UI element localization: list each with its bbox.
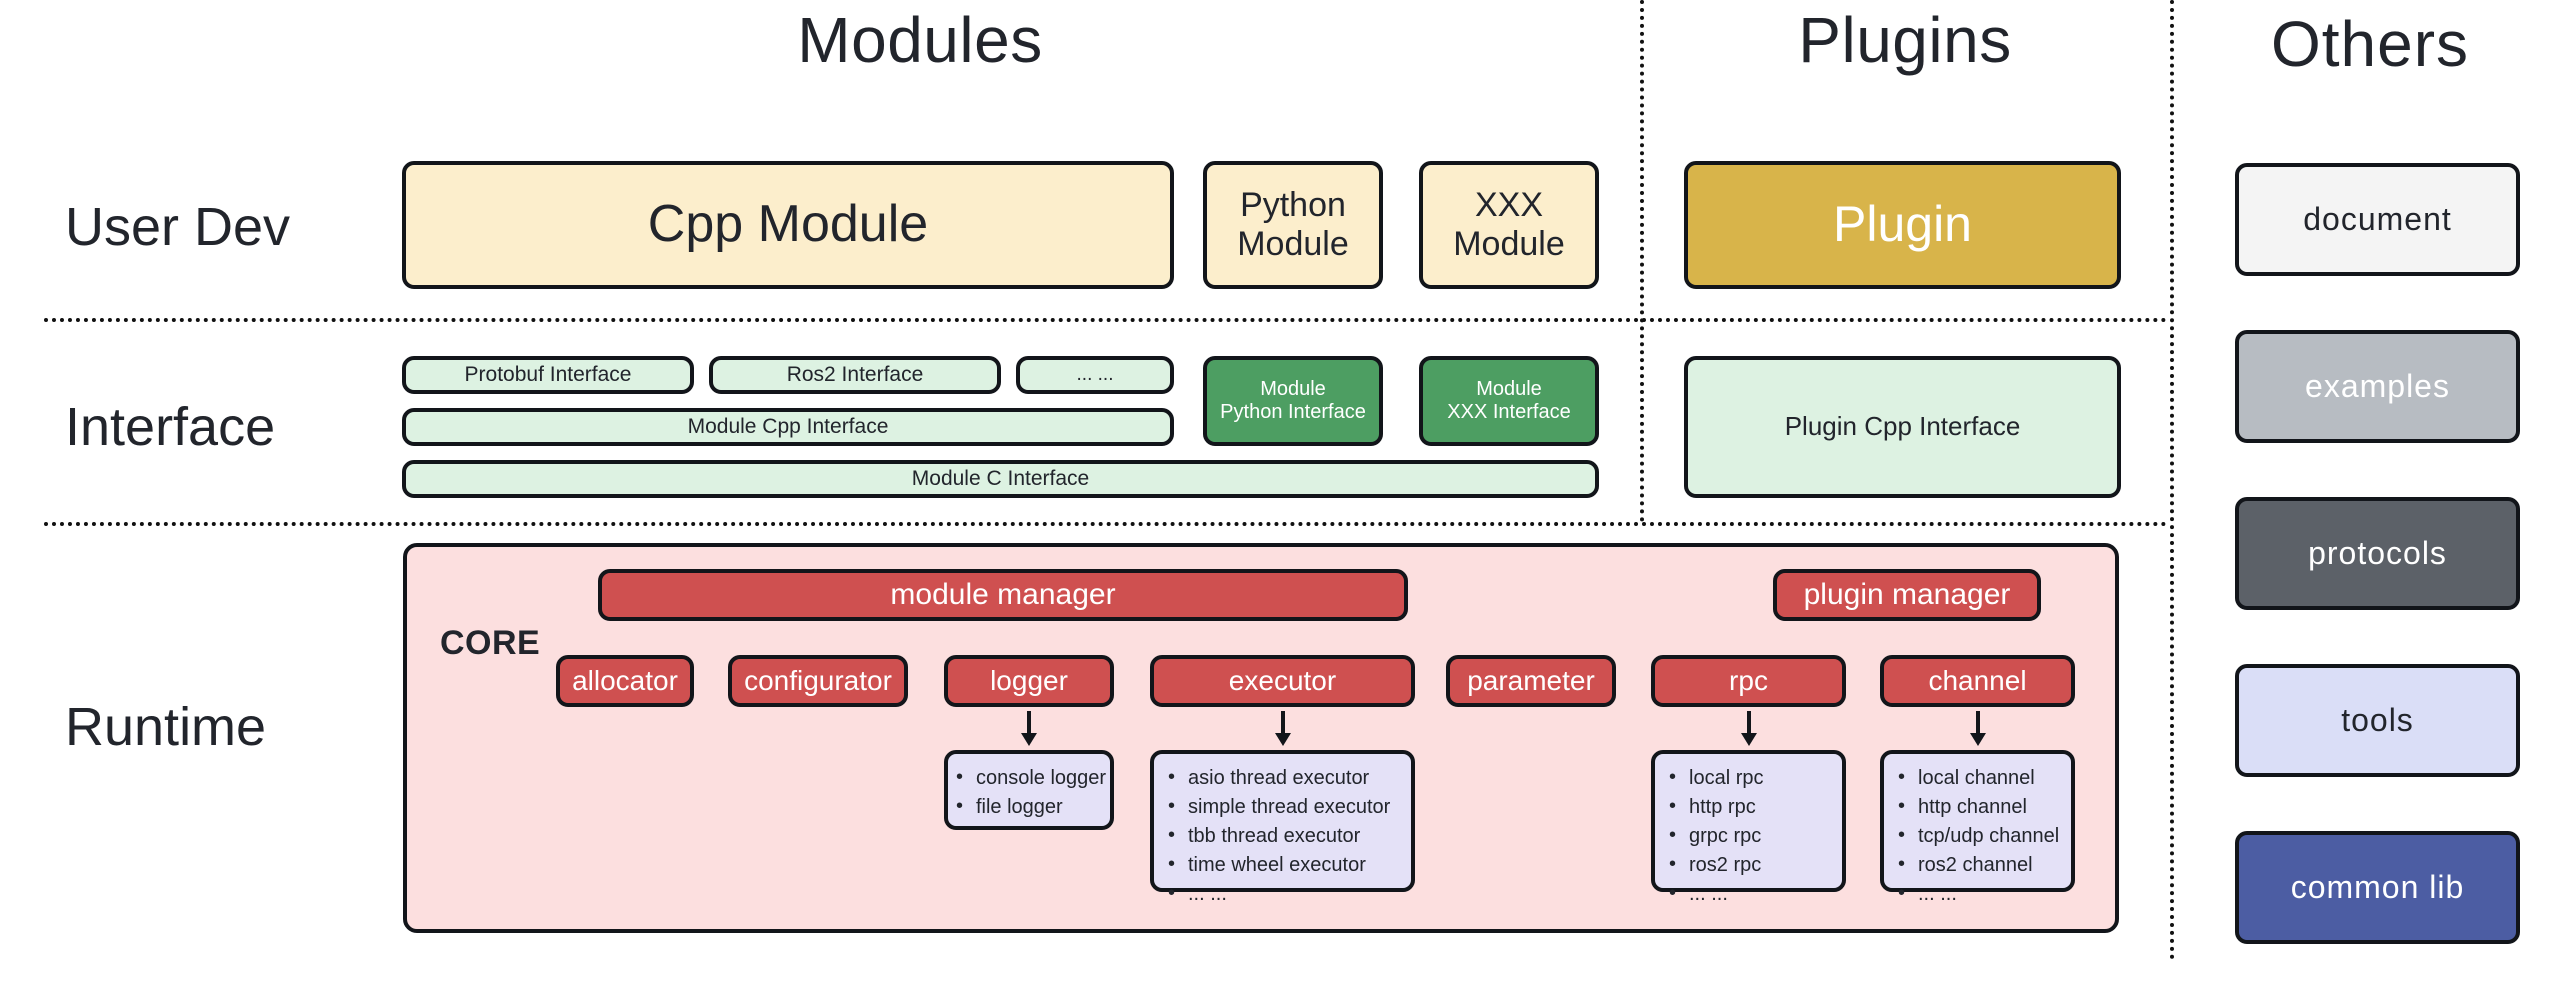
module-xxx-interface-label-line1: Module [1476, 378, 1542, 401]
list-item: ... ... [1914, 880, 2061, 909]
column-header-others: Others [2200, 12, 2540, 76]
module-cpp-interface-label: Module Cpp Interface [688, 415, 889, 439]
row-label-runtime: Runtime [65, 700, 266, 754]
list-item: ros2 rpc [1685, 851, 1832, 880]
ros2-interface-label: Ros2 Interface [787, 363, 924, 387]
core-component-label: parameter [1467, 665, 1595, 697]
core-component-allocator[interactable]: allocator [556, 655, 694, 707]
module-cpp-interface-box[interactable]: Module Cpp Interface [402, 408, 1174, 446]
rpc-children-list: local rpc http rpc grpc rpc ros2 rpc ...… [1655, 764, 1842, 909]
list-item: tbb thread executor [1184, 822, 1401, 851]
row-label-user-dev: User Dev [65, 200, 290, 254]
module-xxx-interface-label-line2: XXX Interface [1447, 401, 1570, 424]
more-interface-box[interactable]: ... ... [1016, 356, 1174, 394]
list-item: http channel [1914, 793, 2061, 822]
others-item-label: examples [2305, 368, 2450, 405]
module-python-interface-label-line1: Module [1260, 378, 1326, 401]
others-item-label: tools [2341, 702, 2414, 739]
executor-children-list: asio thread executor simple thread execu… [1154, 764, 1411, 909]
divider-plugins-others [2170, 0, 2174, 960]
arrow-down-icon [1258, 710, 1308, 748]
others-item-tools[interactable]: tools [2235, 664, 2520, 777]
executor-children-box: asio thread executor simple thread execu… [1150, 750, 1415, 892]
divider-interface-runtime [44, 522, 2168, 526]
core-component-logger[interactable]: logger [944, 655, 1114, 707]
protobuf-interface-box[interactable]: Protobuf Interface [402, 356, 694, 394]
logger-children-list: console logger file logger [942, 764, 1116, 822]
list-item: console logger [972, 764, 1106, 793]
python-module-label-line2: Module [1237, 225, 1349, 264]
list-item: simple thread executor [1184, 793, 1401, 822]
plugin-manager-box[interactable]: plugin manager [1773, 569, 2041, 621]
core-component-label: configurator [744, 665, 892, 697]
module-c-interface-label: Module C Interface [912, 467, 1089, 491]
plugin-box[interactable]: Plugin [1684, 161, 2121, 289]
others-item-examples[interactable]: examples [2235, 330, 2520, 443]
others-item-document[interactable]: document [2235, 163, 2520, 276]
list-item: asio thread executor [1184, 764, 1401, 793]
list-item: http rpc [1685, 793, 1832, 822]
cpp-module-box[interactable]: Cpp Module [402, 161, 1174, 289]
others-item-label: common lib [2291, 869, 2465, 906]
rpc-children-box: local rpc http rpc grpc rpc ros2 rpc ...… [1651, 750, 1846, 892]
protobuf-interface-label: Protobuf Interface [465, 363, 632, 387]
core-component-label: logger [990, 665, 1068, 697]
row-label-interface: Interface [65, 400, 275, 454]
module-python-interface-box[interactable]: Module Python Interface [1203, 356, 1383, 446]
list-item: ... ... [1184, 880, 1401, 909]
core-component-label: executor [1229, 665, 1336, 697]
core-component-parameter[interactable]: parameter [1446, 655, 1616, 707]
plugin-manager-label: plugin manager [1804, 578, 2011, 613]
list-item: time wheel executor [1184, 851, 1401, 880]
divider-modules-plugins [1640, 0, 1644, 522]
plugin-cpp-interface-label: Plugin Cpp Interface [1785, 412, 2021, 442]
plugin-label: Plugin [1833, 196, 1972, 254]
core-component-channel[interactable]: channel [1880, 655, 2075, 707]
column-header-plugins: Plugins [1690, 8, 2120, 72]
others-item-common-lib[interactable]: common lib [2235, 831, 2520, 944]
module-python-interface-label-line2: Python Interface [1220, 401, 1366, 424]
others-item-protocols[interactable]: protocols [2235, 497, 2520, 610]
core-title: CORE [440, 624, 540, 663]
more-interface-label: ... ... [1077, 364, 1114, 386]
arrow-down-icon [1953, 710, 2003, 748]
plugin-cpp-interface-box[interactable]: Plugin Cpp Interface [1684, 356, 2121, 498]
list-item: ... ... [1685, 880, 1832, 909]
arrow-down-icon [1004, 710, 1054, 748]
arrow-down-icon [1724, 710, 1774, 748]
list-item: local channel [1914, 764, 2061, 793]
channel-children-list: local channel http channel tcp/udp chann… [1884, 764, 2071, 909]
list-item: grpc rpc [1685, 822, 1832, 851]
xxx-module-label-line2: Module [1453, 225, 1565, 264]
core-component-label: channel [1928, 665, 2026, 697]
xxx-module-box[interactable]: XXX Module [1419, 161, 1599, 289]
others-item-label: protocols [2308, 535, 2447, 572]
channel-children-box: local channel http channel tcp/udp chann… [1880, 750, 2075, 892]
module-manager-box[interactable]: module manager [598, 569, 1408, 621]
module-manager-label: module manager [890, 578, 1115, 613]
ros2-interface-box[interactable]: Ros2 Interface [709, 356, 1001, 394]
core-component-configurator[interactable]: configurator [728, 655, 908, 707]
divider-user-dev-interface [44, 318, 2168, 322]
module-xxx-interface-box[interactable]: Module XXX Interface [1419, 356, 1599, 446]
list-item: file logger [972, 793, 1106, 822]
list-item: local rpc [1685, 764, 1832, 793]
core-component-label: allocator [572, 665, 678, 697]
python-module-box[interactable]: Python Module [1203, 161, 1383, 289]
list-item: tcp/udp channel [1914, 822, 2061, 851]
core-component-executor[interactable]: executor [1150, 655, 1415, 707]
core-component-rpc[interactable]: rpc [1651, 655, 1846, 707]
cpp-module-label: Cpp Module [648, 195, 928, 255]
others-item-label: document [2303, 201, 2452, 238]
architecture-diagram: Modules Plugins Others User Dev Interfac… [0, 0, 2560, 984]
list-item: ros2 channel [1914, 851, 2061, 880]
column-header-modules: Modules [620, 8, 1220, 72]
logger-children-box: console logger file logger [944, 750, 1114, 830]
python-module-label-line1: Python [1240, 186, 1346, 225]
module-c-interface-box[interactable]: Module C Interface [402, 460, 1599, 498]
core-component-label: rpc [1729, 665, 1768, 697]
xxx-module-label-line1: XXX [1475, 186, 1543, 225]
